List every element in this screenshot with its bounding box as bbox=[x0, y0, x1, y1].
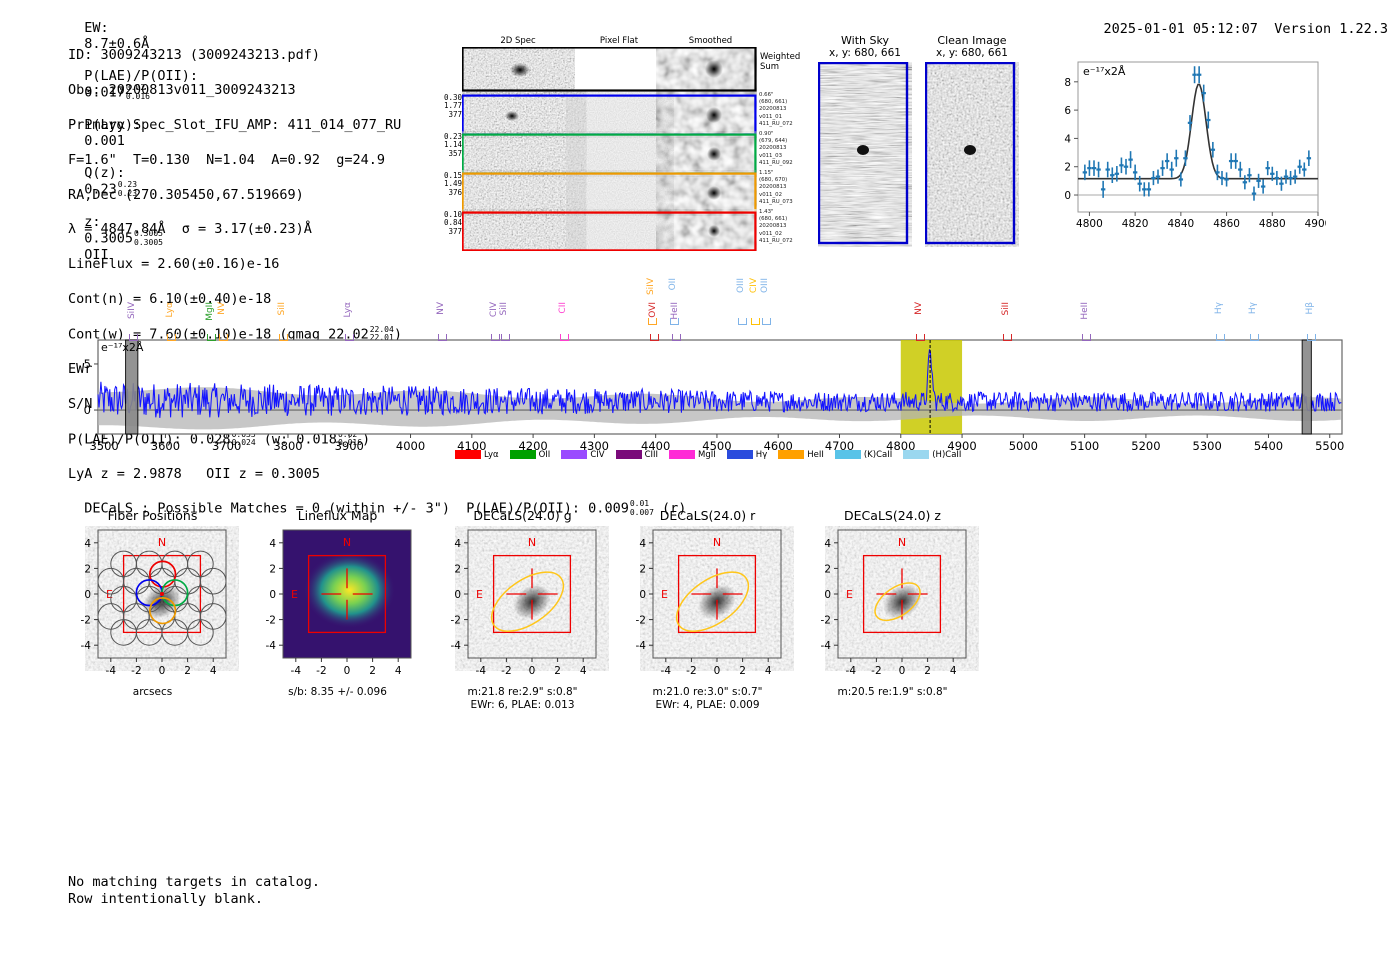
line-label-SiIV-12: SiIV bbox=[646, 278, 656, 295]
line-label-H-20: Hγ bbox=[1214, 302, 1224, 314]
clean-image-title: Clean Image bbox=[925, 34, 1019, 47]
svg-text:4: 4 bbox=[824, 538, 831, 550]
cutout-title-0: Fiber Positions bbox=[60, 508, 245, 523]
svg-text:2: 2 bbox=[739, 665, 746, 677]
cutout-title-2: DECaLS(24.0) g bbox=[430, 508, 615, 523]
cutout-title-3: DECaLS(24.0) r bbox=[615, 508, 800, 523]
cutout-image-1: NE-4-4-2-2002244 bbox=[245, 526, 430, 686]
line-tick-4 bbox=[279, 334, 288, 341]
legend-label-CIV: CIV bbox=[590, 450, 604, 460]
svg-text:N: N bbox=[343, 536, 351, 549]
line-label-SiIV-0: SiIV bbox=[127, 302, 137, 319]
svg-text:N: N bbox=[528, 536, 536, 549]
svg-text:-4: -4 bbox=[661, 665, 672, 677]
line-tick-21 bbox=[1250, 334, 1259, 341]
row-stats-2: 0.15 1.49 376 bbox=[424, 172, 462, 197]
legend-swatch-H bbox=[727, 450, 753, 459]
info-obs: Obs: 20200813v011_3009243213 bbox=[68, 82, 402, 99]
report-timestamp-version: 2025-01-01 05:12:07 Version 1.22.3 bbox=[1087, 5, 1388, 37]
info-id: ID: 3009243213 (3009243213.pdf) bbox=[68, 47, 402, 64]
line-tick-9 bbox=[560, 334, 569, 341]
line-tick-13 bbox=[670, 318, 679, 325]
legend-label-OII: OII bbox=[539, 450, 551, 460]
svg-text:5100: 5100 bbox=[1070, 439, 1099, 453]
cutout-title-4: DECaLS(24.0) z bbox=[800, 508, 985, 523]
svg-text:-4: -4 bbox=[266, 640, 277, 652]
svg-text:2: 2 bbox=[824, 563, 831, 575]
cutout-caption-2-2: EWr: 6, PLAE: 0.013 bbox=[430, 699, 615, 712]
line-label-CIV-7: CIV bbox=[489, 302, 499, 317]
cutout-panel-group: Fiber PositionsNE-4-4-2-2002244arcsecsLi… bbox=[60, 508, 1060, 728]
legend-swatch-HCaII bbox=[903, 450, 929, 459]
svg-text:-2: -2 bbox=[266, 615, 276, 627]
svg-text:2: 2 bbox=[269, 563, 276, 575]
legend-swatch-CIII bbox=[616, 450, 642, 459]
svg-text:0: 0 bbox=[639, 589, 646, 601]
svg-text:2: 2 bbox=[184, 665, 191, 677]
svg-text:5: 5 bbox=[84, 357, 91, 371]
svg-text:4: 4 bbox=[395, 665, 402, 677]
line-label-MgII-2: MgII bbox=[205, 302, 215, 321]
line-label-OVI-10: OVI bbox=[648, 302, 658, 318]
svg-text:4: 4 bbox=[84, 538, 91, 550]
cutout-panel-2: DECaLS(24.0) gNE-4-4-2-2002244m:21.8 re:… bbox=[430, 508, 615, 723]
info-lambda: λ = 4847.84Å σ = 3.17(±0.23)Å bbox=[68, 221, 402, 238]
with-sky-panel: With Sky x, y: 680, 661 bbox=[818, 34, 912, 247]
legend-label-CIII: CIII bbox=[645, 450, 658, 460]
svg-text:0: 0 bbox=[454, 589, 461, 601]
spec2d-images bbox=[462, 47, 757, 251]
svg-text:3500: 3500 bbox=[89, 439, 118, 453]
line-tick-8 bbox=[501, 334, 510, 341]
cutout-caption-0-0: arcsecs bbox=[60, 686, 245, 699]
with-sky-xy: x, y: 680, 661 bbox=[818, 47, 912, 59]
line-tick-6 bbox=[438, 334, 447, 341]
svg-text:2: 2 bbox=[84, 563, 91, 575]
col-title-smoothed: Smoothed bbox=[664, 36, 757, 46]
svg-text:-4: -4 bbox=[81, 640, 92, 652]
line-tick-3 bbox=[219, 334, 228, 341]
svg-text:0: 0 bbox=[714, 665, 721, 677]
version-text: Version 1.22.3 bbox=[1274, 21, 1388, 37]
cutout-panel-0: Fiber PositionsNE-4-4-2-2002244arcsecs bbox=[60, 508, 245, 723]
svg-text:2: 2 bbox=[924, 665, 931, 677]
timestamp-text: 2025-01-01 05:12:07 bbox=[1104, 21, 1258, 37]
svg-text:-4: -4 bbox=[106, 665, 117, 677]
svg-text:4880: 4880 bbox=[1259, 218, 1286, 230]
legend-swatch-MgII bbox=[669, 450, 695, 459]
legend-label-KCaII: (K)CaII bbox=[864, 450, 892, 460]
svg-text:2: 2 bbox=[554, 665, 561, 677]
weighted-sum-label: Weighted Sum bbox=[760, 52, 800, 72]
svg-text:-4: -4 bbox=[821, 640, 832, 652]
spectrum-legend: LyαOIICIVCIIIMgIIHγHeII(K)CaII(H)CaII bbox=[455, 444, 972, 463]
svg-text:4900: 4900 bbox=[1305, 218, 1326, 230]
svg-text:-4: -4 bbox=[636, 640, 647, 652]
svg-text:E: E bbox=[846, 588, 853, 601]
line-label-Ly-1: Lyα bbox=[165, 302, 175, 317]
svg-text:2: 2 bbox=[639, 563, 646, 575]
line-label-Ly-5: Lyα bbox=[343, 302, 353, 317]
svg-text:5500: 5500 bbox=[1315, 439, 1344, 453]
svg-text:-2: -2 bbox=[316, 665, 326, 677]
svg-text:2: 2 bbox=[369, 665, 376, 677]
svg-text:0: 0 bbox=[899, 665, 906, 677]
cutout-image-0: NE-4-4-2-2002244 bbox=[60, 526, 245, 686]
svg-text:4: 4 bbox=[1064, 133, 1071, 145]
line-label-H-22: Hβ bbox=[1305, 302, 1315, 315]
row-stats-0: 0.30 1.77 377 bbox=[424, 94, 462, 119]
row-meta-0: 0.66" (680, 661) 20200813 v011_01 411_RU… bbox=[759, 92, 793, 128]
line-label-CIV-15: CIV bbox=[749, 278, 759, 293]
line-label-OII-13: OII bbox=[668, 278, 678, 290]
line-label-CII-9: CII bbox=[558, 302, 568, 314]
line-label-HeII-11: HeII bbox=[670, 302, 680, 320]
cutout-caption-3-2: EWr: 4, PLAE: 0.009 bbox=[615, 699, 800, 712]
svg-text:-4: -4 bbox=[451, 640, 462, 652]
svg-text:-4: -4 bbox=[846, 665, 857, 677]
legend-swatch-OII bbox=[510, 450, 536, 459]
svg-text:4860: 4860 bbox=[1213, 218, 1240, 230]
svg-text:-2: -2 bbox=[131, 665, 141, 677]
legend-label-HCaII: (H)CaII bbox=[932, 450, 961, 460]
cutout-image-2: NE-4-4-2-2002244 bbox=[430, 526, 615, 686]
info-lineflux: LineFlux = 2.60(±0.16)e-16 bbox=[68, 256, 402, 273]
cutout-image-3: NE-4-4-2-2002244 bbox=[615, 526, 800, 686]
bottom-note: No matching targets in catalog. Row inte… bbox=[68, 874, 320, 909]
svg-text:-2: -2 bbox=[871, 665, 881, 677]
info-radec: RA,Dec (270.305450,67.519669) bbox=[68, 187, 402, 204]
legend-label-MgII: MgII bbox=[698, 450, 716, 460]
svg-text:3700: 3700 bbox=[212, 439, 241, 453]
line-label-OIII-16: OIII bbox=[760, 278, 770, 293]
line-tick-10 bbox=[650, 334, 659, 341]
svg-text:N: N bbox=[158, 536, 166, 549]
line-tick-11 bbox=[672, 334, 681, 341]
cutout-caption-4-1: m:20.5 re:1.9" s:0.8" bbox=[800, 686, 985, 699]
legend-swatch-Ly bbox=[455, 450, 481, 459]
svg-text:5000: 5000 bbox=[1009, 439, 1038, 453]
line-label-NV-6: NV bbox=[436, 302, 446, 315]
line-tick-19 bbox=[1082, 334, 1091, 341]
svg-text:5400: 5400 bbox=[1254, 439, 1283, 453]
info-seeing: F=1.6" T=0.130 N=1.04 A=0.92 g=24.9 bbox=[68, 152, 402, 169]
full-spectrum-chart: 3500360037003800390040004100420043004400… bbox=[60, 278, 1350, 468]
svg-text:-2: -2 bbox=[501, 665, 511, 677]
line-tick-0 bbox=[129, 334, 138, 341]
row-meta-3: 1.43" (680, 661) 20200813 v011_02 411_RU… bbox=[759, 209, 793, 245]
svg-text:2: 2 bbox=[1064, 162, 1071, 174]
line-label-H-21: Hγ bbox=[1248, 302, 1258, 314]
cutout-panel-3: DECaLS(24.0) rNE-4-4-2-2002244m:21.0 re:… bbox=[615, 508, 800, 723]
svg-text:-2: -2 bbox=[636, 615, 646, 627]
svg-text:4000: 4000 bbox=[396, 439, 425, 453]
row-meta-1: 0.90" (679, 644) 20200813 v011_03 411_RU… bbox=[759, 131, 793, 167]
cutout-title-1: Lineflux Map bbox=[245, 508, 430, 523]
svg-text:0: 0 bbox=[824, 589, 831, 601]
line-label-SiII-4: SiII bbox=[277, 302, 287, 316]
svg-text:E: E bbox=[476, 588, 483, 601]
svg-text:N: N bbox=[898, 536, 906, 549]
svg-text:E: E bbox=[661, 588, 668, 601]
svg-text:N: N bbox=[713, 536, 721, 549]
line-tick-14 bbox=[738, 318, 747, 325]
legend-label-HeII: HeII bbox=[807, 450, 824, 460]
line-tick-15 bbox=[751, 318, 760, 325]
with-sky-title: With Sky bbox=[818, 34, 912, 47]
row-meta-2: 1.15" (680, 670) 20200813 v011_02 411_RU… bbox=[759, 170, 793, 206]
svg-text:5300: 5300 bbox=[1193, 439, 1222, 453]
svg-text:4: 4 bbox=[765, 665, 772, 677]
svg-text:0: 0 bbox=[159, 665, 166, 677]
svg-text:4: 4 bbox=[454, 538, 461, 550]
svg-text:4: 4 bbox=[950, 665, 957, 677]
svg-text:3900: 3900 bbox=[335, 439, 364, 453]
line-tick-1 bbox=[167, 334, 176, 341]
svg-text:0: 0 bbox=[529, 665, 536, 677]
line-tick-22 bbox=[1307, 334, 1316, 341]
svg-text:-4: -4 bbox=[476, 665, 487, 677]
row-stats-3: 0.10 0.84 377 bbox=[424, 211, 462, 236]
svg-text:8: 8 bbox=[1064, 77, 1071, 89]
svg-text:0: 0 bbox=[84, 403, 91, 417]
svg-text:4800: 4800 bbox=[1076, 218, 1103, 230]
legend-swatch-KCaII bbox=[835, 450, 861, 459]
clean-image-xy: x, y: 680, 661 bbox=[925, 47, 1019, 59]
line-label-SiII-8: SiII bbox=[499, 302, 509, 316]
svg-text:4: 4 bbox=[269, 538, 276, 550]
svg-text:5200: 5200 bbox=[1131, 439, 1160, 453]
svg-text:3800: 3800 bbox=[273, 439, 302, 453]
line-label-HeII-19: HeII bbox=[1080, 302, 1090, 320]
svg-text:4: 4 bbox=[210, 665, 217, 677]
spec2d-panel-group: 2D Spec Pixel Flat Smoothed bbox=[462, 36, 757, 251]
info-primary-spec: Primary Spec_Slot_IFU_AMP: 411_014_077_R… bbox=[68, 117, 402, 134]
line-tick-18 bbox=[1003, 334, 1012, 341]
svg-text:E: E bbox=[291, 588, 298, 601]
cutout-caption-1-1: s/b: 8.35 +/- 0.096 bbox=[245, 686, 430, 699]
svg-text:-2: -2 bbox=[821, 615, 831, 627]
cutout-image-4: NE-4-4-2-2002244 bbox=[800, 526, 985, 686]
svg-text:0: 0 bbox=[344, 665, 351, 677]
svg-text:4: 4 bbox=[639, 538, 646, 550]
legend-swatch-CIV bbox=[561, 450, 587, 459]
col-title-pixelflat: Pixel Flat bbox=[574, 36, 664, 46]
svg-text:6: 6 bbox=[1064, 105, 1071, 117]
cutout-caption-2-1: m:21.8 re:2.9" s:0.8" bbox=[430, 686, 615, 699]
cutout-panel-1: Lineflux MapNE-4-4-2-2002244s/b: 8.35 +/… bbox=[245, 508, 430, 723]
svg-text:0: 0 bbox=[269, 589, 276, 601]
line-tick-7 bbox=[491, 334, 500, 341]
svg-text:4: 4 bbox=[580, 665, 587, 677]
info-redshifts: LyA z = 2.9878 OII z = 0.3005 bbox=[68, 466, 402, 483]
line-tick-16 bbox=[762, 318, 771, 325]
line-label-NV-17: NV bbox=[914, 302, 924, 315]
legend-label-Ly: Lyα bbox=[484, 450, 499, 460]
line-tick-2 bbox=[207, 334, 216, 341]
svg-text:-2: -2 bbox=[686, 665, 696, 677]
svg-text:0: 0 bbox=[84, 589, 91, 601]
cutout-caption-3-1: m:21.0 re:3.0" s:0.7" bbox=[615, 686, 800, 699]
svg-text:e⁻¹⁷x2Å: e⁻¹⁷x2Å bbox=[1083, 65, 1126, 78]
svg-text:3600: 3600 bbox=[151, 439, 180, 453]
legend-label-H: Hγ bbox=[756, 450, 767, 460]
line-tick-17 bbox=[916, 334, 925, 341]
svg-text:-4: -4 bbox=[291, 665, 302, 677]
svg-text:0: 0 bbox=[1064, 190, 1071, 202]
emission-line-markers: SiIVLyαMgIINVSiIILyαNVCIVSiIICIIOVIHeIIS… bbox=[60, 278, 1350, 358]
svg-text:4840: 4840 bbox=[1167, 218, 1194, 230]
cutout-panel-4: DECaLS(24.0) zNE-4-4-2-2002244m:20.5 re:… bbox=[800, 508, 985, 723]
line-tick-5 bbox=[345, 334, 354, 341]
row-stats-1: 0.23 1.14 357 bbox=[424, 133, 462, 158]
line-tick-20 bbox=[1216, 334, 1225, 341]
line-tick-12 bbox=[648, 318, 657, 325]
svg-text:2: 2 bbox=[454, 563, 461, 575]
legend-swatch-HeII bbox=[778, 450, 804, 459]
svg-text:-2: -2 bbox=[81, 615, 91, 627]
line-label-SiII-18: SiII bbox=[1001, 302, 1011, 316]
svg-text:4820: 4820 bbox=[1122, 218, 1149, 230]
clean-image-panel: Clean Image x, y: 680, 661 bbox=[925, 34, 1019, 247]
line-label-NV-3: NV bbox=[217, 302, 227, 315]
emission-line-zoom-chart: 48004820484048604880490002468e⁻¹⁷x2Å bbox=[1036, 52, 1326, 242]
line-label-OIII-14: OIII bbox=[736, 278, 746, 293]
col-title-2dspec: 2D Spec bbox=[462, 36, 574, 46]
svg-text:-2: -2 bbox=[451, 615, 461, 627]
